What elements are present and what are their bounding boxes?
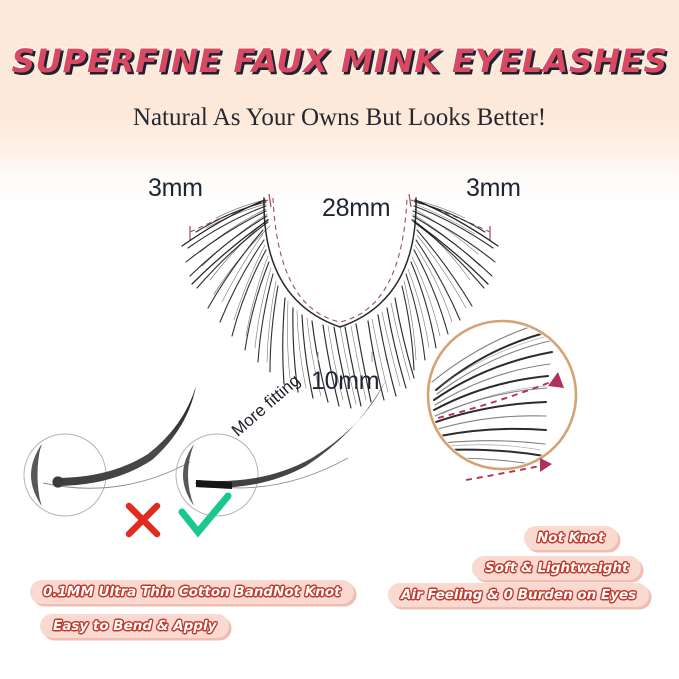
cross-icon	[129, 506, 157, 534]
dimension-label-thickness: 10mm	[311, 367, 379, 396]
dimension-label-right: 3mm	[466, 174, 521, 203]
comparison-bad	[24, 386, 196, 534]
feature-badge-cotton-band: 0.1MM Ultra Thin Cotton BandNot Knot	[30, 580, 354, 604]
feature-badge-easy-bend: Easy to Bend & Apply	[40, 614, 229, 638]
magnifier-circle	[428, 320, 576, 480]
page-title: SUPERFINE FAUX MINK EYELASHES	[0, 42, 679, 80]
magnifier-arrowhead-lower	[540, 458, 552, 472]
good-circle-outline	[176, 434, 258, 516]
thickness-measure-ticks	[318, 352, 372, 362]
feature-badge-not-knot: Not Knot	[524, 526, 618, 550]
good-eyelid-crescent	[183, 444, 194, 506]
product-infographic: SUPERFINE FAUX MINK EYELASHES Natural As…	[0, 0, 679, 679]
feature-badge-soft-lightweight: Soft & Lightweight	[472, 556, 641, 580]
dimension-label-left: 3mm	[148, 174, 203, 203]
dimension-label-center: 28mm	[322, 194, 390, 223]
page-subtitle: Natural As Your Owns But Looks Better!	[0, 104, 679, 132]
feature-badge-air-feeling: Air Feeling & 0 Burden on Eyes	[388, 583, 649, 607]
header-banner: SUPERFINE FAUX MINK EYELASHES Natural As…	[0, 0, 679, 150]
bad-lash-round-base	[52, 476, 63, 487]
